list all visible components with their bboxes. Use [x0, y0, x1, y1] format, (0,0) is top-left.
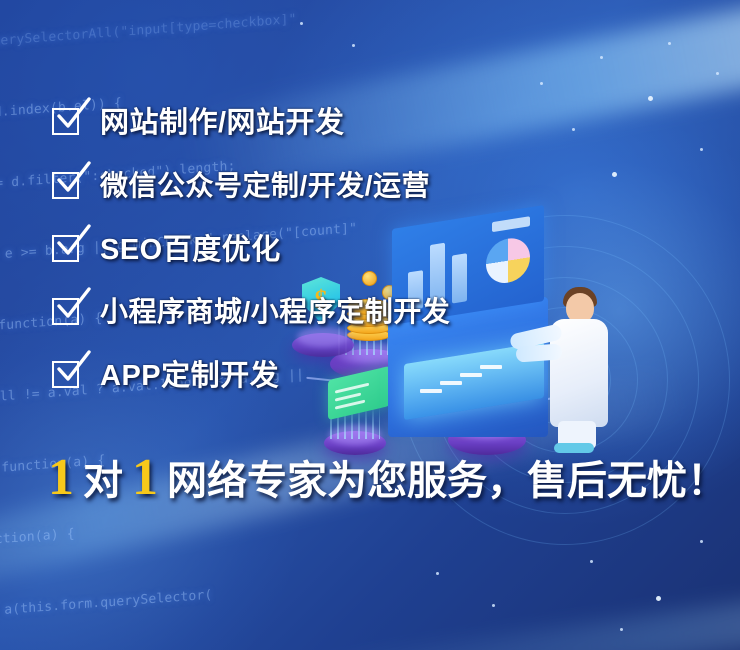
headline-number-second: 1	[132, 452, 158, 504]
checklist-item-label: 小程序商城/小程序定制开发	[100, 290, 450, 330]
headline-number-first: 1	[48, 452, 74, 504]
checklist-item-website[interactable]: 网站制作/网站开发	[52, 98, 692, 142]
headline-mid-word: 对	[83, 461, 123, 501]
checklist-item-label: SEO百度优化	[100, 226, 281, 268]
checklist-item-miniprogram[interactable]: 小程序商城/小程序定制开发	[52, 290, 692, 330]
checklist-item-seo[interactable]: SEO百度优化	[52, 226, 692, 268]
checkbox-checked-icon	[52, 295, 82, 325]
service-checklist: 网站制作/网站开发 微信公众号定制/开发/运营 SEO百度优化 小程序商城/小程…	[52, 98, 692, 416]
checkbox-checked-icon	[52, 358, 82, 388]
checklist-item-label: 网站制作/网站开发	[100, 99, 345, 141]
checklist-item-label: 微信公众号定制/开发/运营	[100, 164, 430, 204]
headline-tail-text: 网络专家为您服务，售后无忧！	[167, 461, 727, 501]
checklist-item-wechat[interactable]: 微信公众号定制/开发/运营	[52, 164, 692, 204]
checkbox-checked-icon	[52, 105, 82, 135]
checkbox-checked-icon	[52, 232, 82, 262]
checklist-item-app[interactable]: APP定制开发	[52, 352, 692, 394]
checkbox-checked-icon	[52, 169, 82, 199]
checklist-item-label: APP定制开发	[100, 352, 279, 394]
promo-headline: 1 对 1 网络专家为您服务，售后无忧！	[48, 452, 727, 504]
promo-banner: .querySelectorAll("input[type=checkbox]"…	[0, 0, 740, 650]
